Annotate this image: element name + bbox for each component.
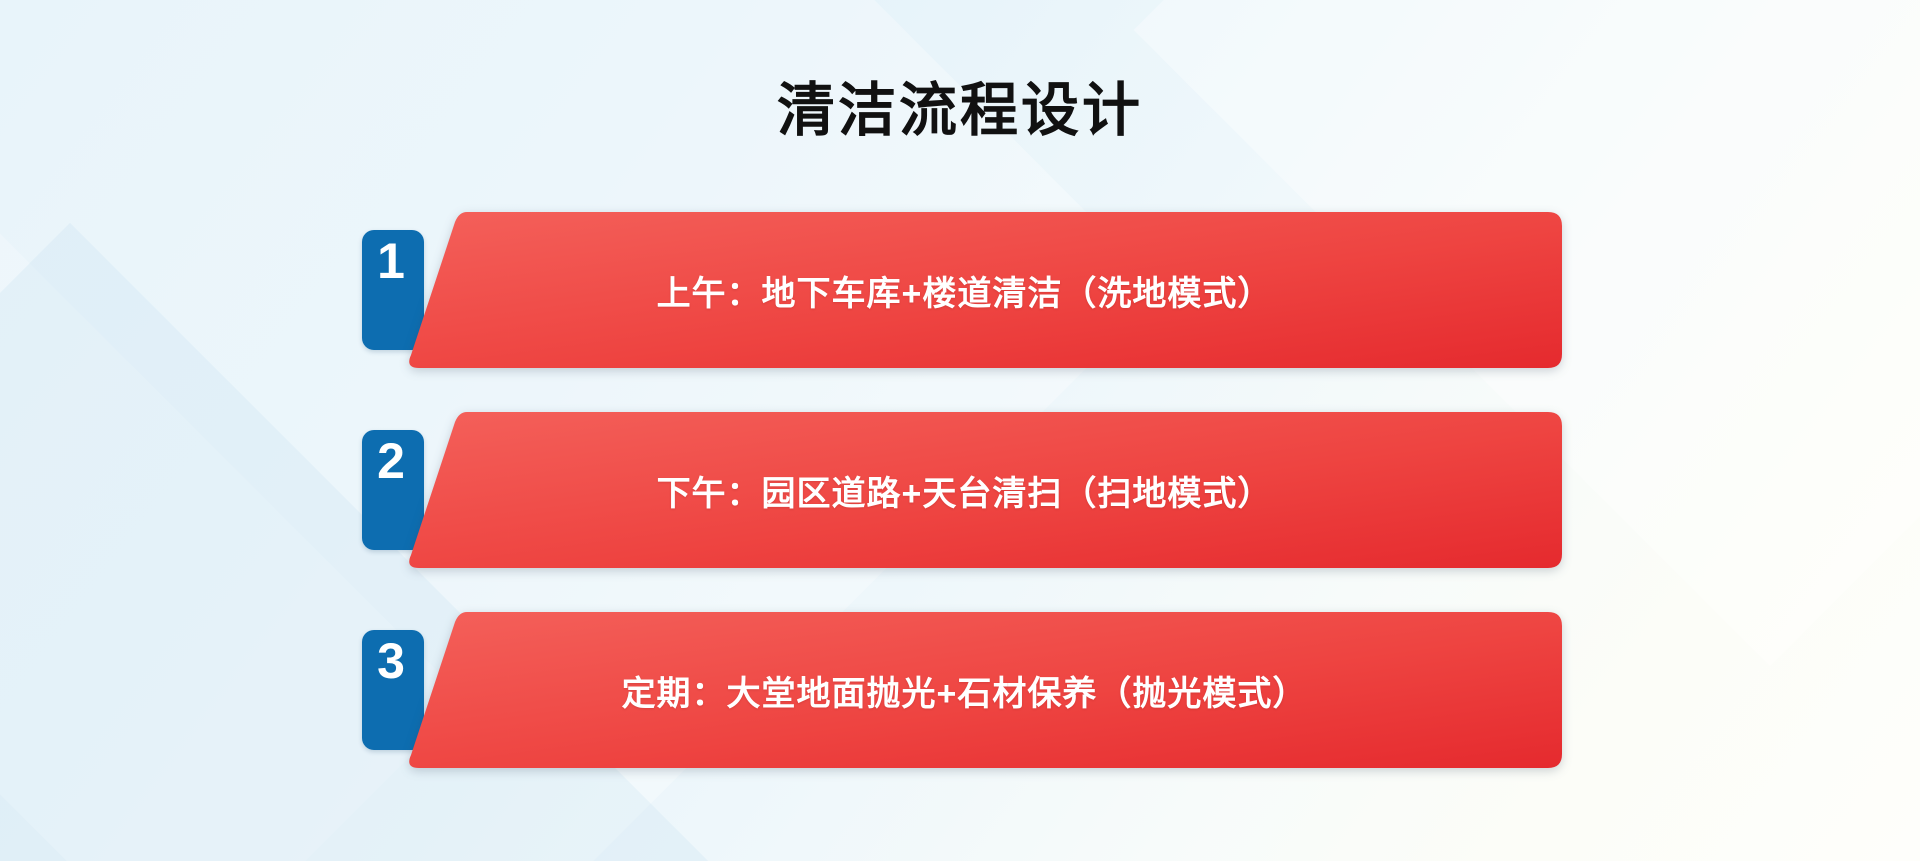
step-description-label: 上午：地下车库+楼道清洁（洗地模式） [410, 212, 1519, 368]
slide-title: 清洁流程设计 [0, 78, 1920, 145]
step-description-label: 下午：园区道路+天台清扫（扫地模式） [410, 412, 1519, 568]
slide-canvas: 清洁流程设计 1 上午：地下车库+楼道清洁（洗地模式） 2 [0, 0, 1920, 861]
step-description-label: 定期：大堂地面抛光+石材保养（抛光模式） [410, 612, 1519, 768]
